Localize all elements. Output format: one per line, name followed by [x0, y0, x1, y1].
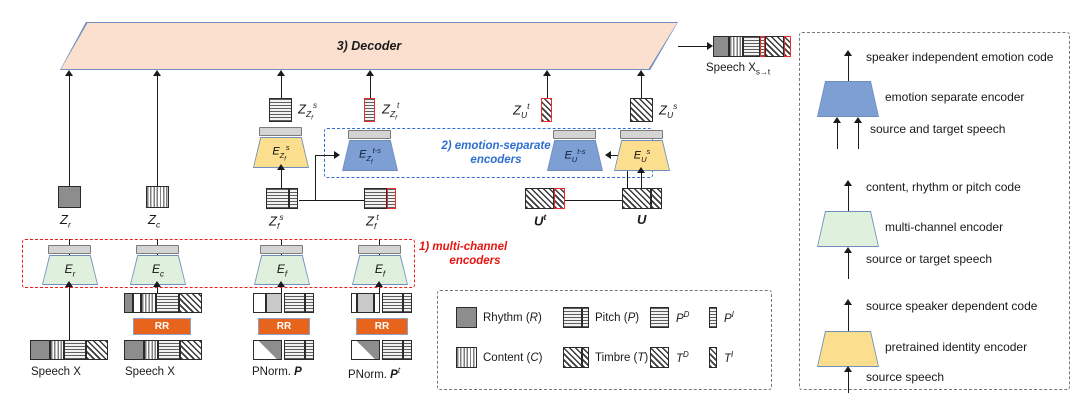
zc-code-block: [146, 186, 169, 208]
zzfs-label: ZZfs: [298, 101, 317, 122]
legend-label-ti: TI: [724, 350, 733, 365]
segment-pitch-2: [305, 293, 314, 313]
emotion-enc-in-line-1: [837, 123, 838, 149]
mc-enc-bottom-label: source or target speech: [866, 252, 992, 266]
encoder-er-label: Er: [65, 262, 76, 278]
feature-legend-box: Rhythm (R) Pitch (P) PD PI Content (C) T…: [437, 290, 772, 390]
encoder-ef-2-label: Ef: [375, 262, 385, 278]
segment-timbre: [86, 340, 108, 360]
segment-pitch: [156, 293, 179, 313]
input-pnorm-label-2: PNorm. Pt: [348, 366, 400, 381]
zus-to-decoder-arrow: [637, 70, 645, 76]
segment-pitch: [284, 293, 305, 313]
segment-pitch: [284, 340, 305, 360]
segment-pitch-dependent: [269, 98, 292, 122]
segment-timbre-dependent: [630, 98, 653, 122]
segment-timbre-independent: [651, 188, 662, 209]
pnorm-p-strip-a: [253, 340, 282, 360]
segment-content: [50, 340, 64, 360]
zzft-label: ZZft: [382, 101, 399, 122]
legend-label-pd: PD: [676, 310, 689, 325]
legend-swatch-pitch: [563, 307, 589, 328]
segment-rhythm: [456, 307, 477, 328]
rr-block-2[interactable]: RR: [133, 318, 191, 335]
legend-swatch-content: [456, 347, 477, 368]
encoder-eu-ts[interactable]: EUt-s: [547, 140, 603, 171]
zfs-code-block: [266, 188, 298, 209]
segment-rhythm-half: [351, 340, 380, 360]
segment-rhythm-half: [253, 340, 282, 360]
encoder-ef-1-label: Ef: [277, 262, 287, 278]
zr-label: Zr: [60, 212, 71, 230]
emotion-enc-fill: [818, 82, 878, 116]
segment-timbre-dependent: [525, 188, 554, 209]
segment-timbre-independent: [784, 36, 791, 57]
emotion-enc-out-line: [848, 55, 849, 81]
segment-blank: [133, 293, 141, 313]
zr-to-decoder-arrow: [65, 70, 73, 76]
rr-output-strip-2: [124, 293, 202, 313]
mc-enc-out-arrow: [844, 180, 852, 186]
segment-rhythm: [713, 36, 729, 57]
segment-blank-2: [374, 293, 380, 313]
zut-to-decoder-line: [547, 76, 548, 98]
segment-pitch: [743, 36, 760, 57]
segment-pitch-2: [305, 340, 314, 360]
zfs-label: Zfs: [269, 212, 284, 231]
emotion-enc-in-arrow-2: [854, 117, 862, 123]
legend-swatch-td: [650, 347, 669, 368]
output-speech-sub: s→t: [756, 67, 770, 76]
segment-timbre-independent: [554, 188, 565, 209]
segment-content: [146, 186, 169, 208]
zut-to-decoder-arrow: [543, 70, 551, 76]
id-enc-out-arrow: [844, 299, 852, 305]
zfs-to-ezfs-line: [281, 168, 282, 188]
rr-output-strip-3a: [253, 293, 282, 313]
input-speech-strip-1: [30, 340, 108, 360]
encoder-ezf-s-label: EZfs: [272, 143, 289, 162]
emotion-separate-line2: encoders: [432, 153, 560, 167]
zzfs-to-decoder-arrow: [277, 70, 285, 76]
zft-code-block: [364, 188, 396, 209]
input-speech-strip-2: [124, 340, 202, 360]
legend-swatch-pd: [650, 307, 669, 328]
pnorm-pt-strip-b: [382, 340, 412, 360]
segment-timbre: [179, 293, 202, 313]
output-speech-label: Speech Xs→t: [706, 62, 770, 76]
segment-pitch-independent: [364, 98, 375, 122]
legend-label-rhythm: Rhythm (R): [483, 312, 542, 324]
legend-item-rhythm: Rhythm (R): [456, 307, 542, 328]
zut-label: ZUt: [513, 101, 529, 120]
legend-item-pitch: Pitch (P): [563, 307, 639, 328]
pnorm-p-strip-b: [284, 340, 314, 360]
segment-content: [141, 293, 156, 313]
legend-swatch-pi: [709, 307, 717, 328]
zft-label: Zft: [366, 212, 379, 231]
zr-code-block: [58, 186, 81, 208]
emotion-enc-shape[interactable]: [817, 81, 879, 117]
zut-code-block: [541, 98, 552, 122]
mc-enc-fill: [818, 212, 878, 246]
encoder-type-legend-box: speaker independent emotion code emotion…: [799, 32, 1070, 390]
u-to-eus-line: [641, 171, 642, 188]
multi-channel-group-box: [22, 239, 415, 288]
zzft-to-decoder-line: [370, 76, 371, 98]
emotion-separate-group-label: 2) emotion-separate encoders: [432, 139, 560, 167]
segment-timbre: [180, 340, 202, 360]
zf-pair-vline: [315, 155, 316, 201]
legend-label-timbre: Timbre (T): [595, 352, 648, 364]
rr-output-strip-4b: [382, 293, 412, 313]
u-label: U: [637, 212, 646, 227]
mc-enc-out-line: [848, 185, 849, 211]
segment-rhythm: [30, 340, 50, 360]
ut-label: Ut: [534, 212, 546, 228]
segment-rhythm-partial: [357, 293, 374, 313]
zc-label: Zc: [148, 212, 160, 230]
id-enc-shape[interactable]: [817, 331, 879, 367]
zus-to-decoder-line: [641, 76, 642, 98]
legend-label-content: Content (C): [483, 352, 542, 364]
emotion-enc-in-line-2: [858, 123, 859, 149]
zf-pair-hline: [299, 200, 365, 201]
segment-pitch: [64, 340, 86, 360]
mc-enc-in-arrow: [844, 247, 852, 253]
zfs-to-ezfs-arrow: [277, 164, 285, 170]
decoder-block[interactable]: 3) Decoder: [60, 22, 678, 70]
legend-item-content: Content (C): [456, 347, 542, 368]
segment-content: [456, 347, 477, 368]
segment-pitch-independent: [709, 307, 717, 328]
legend-item-pi: PI: [709, 307, 734, 328]
mc-enc-in-line: [848, 253, 849, 279]
segment-blank: [253, 293, 266, 313]
encoder-ec-label: Ec: [152, 262, 164, 278]
legend-item-timbre: Timbre (T): [563, 347, 648, 368]
segment-content: [144, 340, 158, 360]
rr-output-strip-4a: [351, 293, 380, 313]
segment-timbre-dependent: [563, 347, 582, 368]
mc-enc-mid-label: multi-channel encoder: [885, 220, 1003, 234]
segment-pitch-independent: [387, 188, 396, 209]
segment-pitch-2: [403, 293, 412, 313]
segment-pitch: [382, 293, 403, 313]
id-enc-in-arrow: [844, 366, 852, 372]
rr-block-4[interactable]: RR: [356, 318, 408, 335]
id-enc-out-line: [848, 305, 849, 331]
segment-pitch-dependent: [364, 188, 387, 209]
multi-channel-line1: 1) multi-channel: [419, 240, 531, 254]
id-enc-fill: [818, 332, 878, 366]
zzft-to-decoder-arrow: [366, 70, 374, 76]
id-enc-in-line: [848, 371, 849, 393]
zc-to-decoder-line: [157, 76, 158, 186]
segment-pitch-2: [403, 340, 412, 360]
zzft-code-block: [364, 98, 375, 122]
segment-rhythm-partial: [124, 293, 133, 313]
segment-rhythm-partial: [266, 293, 282, 313]
segment-pitch-independent: [289, 188, 298, 209]
input-speech-label-1: Speech X: [31, 366, 81, 378]
segment-timbre-dependent: [650, 347, 669, 368]
euts-cap: [553, 130, 596, 139]
eus-cap: [620, 130, 663, 139]
emotion-enc-mid-label: emotion separate encoder: [885, 90, 1024, 104]
emotion-enc-bottom-label: source and target speech: [870, 122, 1005, 136]
legend-swatch-ti: [709, 347, 717, 368]
multi-channel-group-label: 1) multi-channel encoders: [419, 240, 531, 268]
input-speech-label-2: Speech X: [125, 366, 175, 378]
rr-block-3[interactable]: RR: [258, 318, 310, 335]
segment-content: [729, 36, 742, 57]
encoder-ezf-ts-label: EZft-s: [359, 146, 381, 165]
ezfs-cap: [259, 127, 302, 136]
segment-rhythm: [58, 186, 81, 208]
emotion-enc-out-arrow: [844, 50, 852, 56]
segment-pitch-dependent: [650, 307, 669, 328]
segment-timbre-dependent: [622, 188, 651, 209]
segment-pitch-dependent: [266, 188, 289, 209]
mc-enc-shape[interactable]: [817, 211, 879, 247]
encoder-eu-ts-label: EUt-s: [564, 147, 585, 164]
id-enc-bottom-label: source speech: [866, 370, 944, 384]
segment-rhythm: [124, 340, 144, 360]
segment-pitch: [158, 340, 180, 360]
multi-channel-line2: encoders: [419, 254, 531, 268]
u-to-eus-arrow: [637, 167, 645, 173]
output-speech-text: Speech X: [706, 62, 756, 74]
legend-label-pitch: Pitch (P): [595, 312, 639, 324]
legend-swatch-timbre: [563, 347, 589, 368]
ezfts-cap: [348, 130, 391, 139]
zr-to-decoder-line: [69, 76, 70, 186]
emotion-enc-top-label: speaker independent emotion code: [866, 50, 1053, 64]
ut-code-block: [525, 188, 565, 209]
zus-code-block: [630, 98, 653, 122]
decoder-label: 3) Decoder: [60, 22, 678, 70]
zc-to-decoder-arrow: [153, 70, 161, 76]
encoder-eu-s-label: EUs: [634, 147, 651, 164]
segment-pitch: [382, 340, 403, 360]
legend-item-ti: TI: [709, 347, 733, 368]
zzfs-code-block: [269, 98, 292, 122]
zus-label: ZUs: [659, 101, 677, 120]
legend-item-pd: PD: [650, 307, 689, 328]
segment-timbre-independent: [582, 347, 589, 368]
output-speech-strip: [713, 36, 791, 57]
segment-pitch-independent: [582, 307, 589, 328]
emotion-enc-in-arrow-1: [833, 117, 841, 123]
rr-output-strip-3b: [284, 293, 314, 313]
mc-enc-top-label: content, rhythm or pitch code: [866, 180, 1021, 194]
legend-item-td: TD: [650, 347, 689, 368]
legend-swatch-rhythm: [456, 307, 477, 328]
input-pnorm-label-1: PNorm. P: [252, 366, 302, 378]
emotion-separate-line1: 2) emotion-separate: [432, 139, 560, 153]
id-enc-top-label: source speaker dependent code: [866, 299, 1037, 313]
segment-pitch-dependent: [563, 307, 582, 328]
u-code-block: [622, 188, 662, 209]
legend-label-pi: PI: [724, 310, 734, 325]
zzfs-to-decoder-line: [281, 76, 282, 98]
segment-timbre-independent: [541, 98, 552, 122]
legend-label-td: TD: [676, 350, 689, 365]
id-enc-mid-label: pretrained identity encoder: [885, 340, 1027, 354]
pnorm-pt-strip-a: [351, 340, 380, 360]
speech1-to-er-line: [69, 285, 70, 340]
segment-timbre-independent: [709, 347, 717, 368]
segment-timbre: [765, 36, 784, 57]
zf-pair-to-ezfts-hline: [315, 155, 335, 156]
encoder-ezf-ts[interactable]: EZft-s: [342, 140, 398, 171]
decoder-output-line: [678, 46, 708, 47]
